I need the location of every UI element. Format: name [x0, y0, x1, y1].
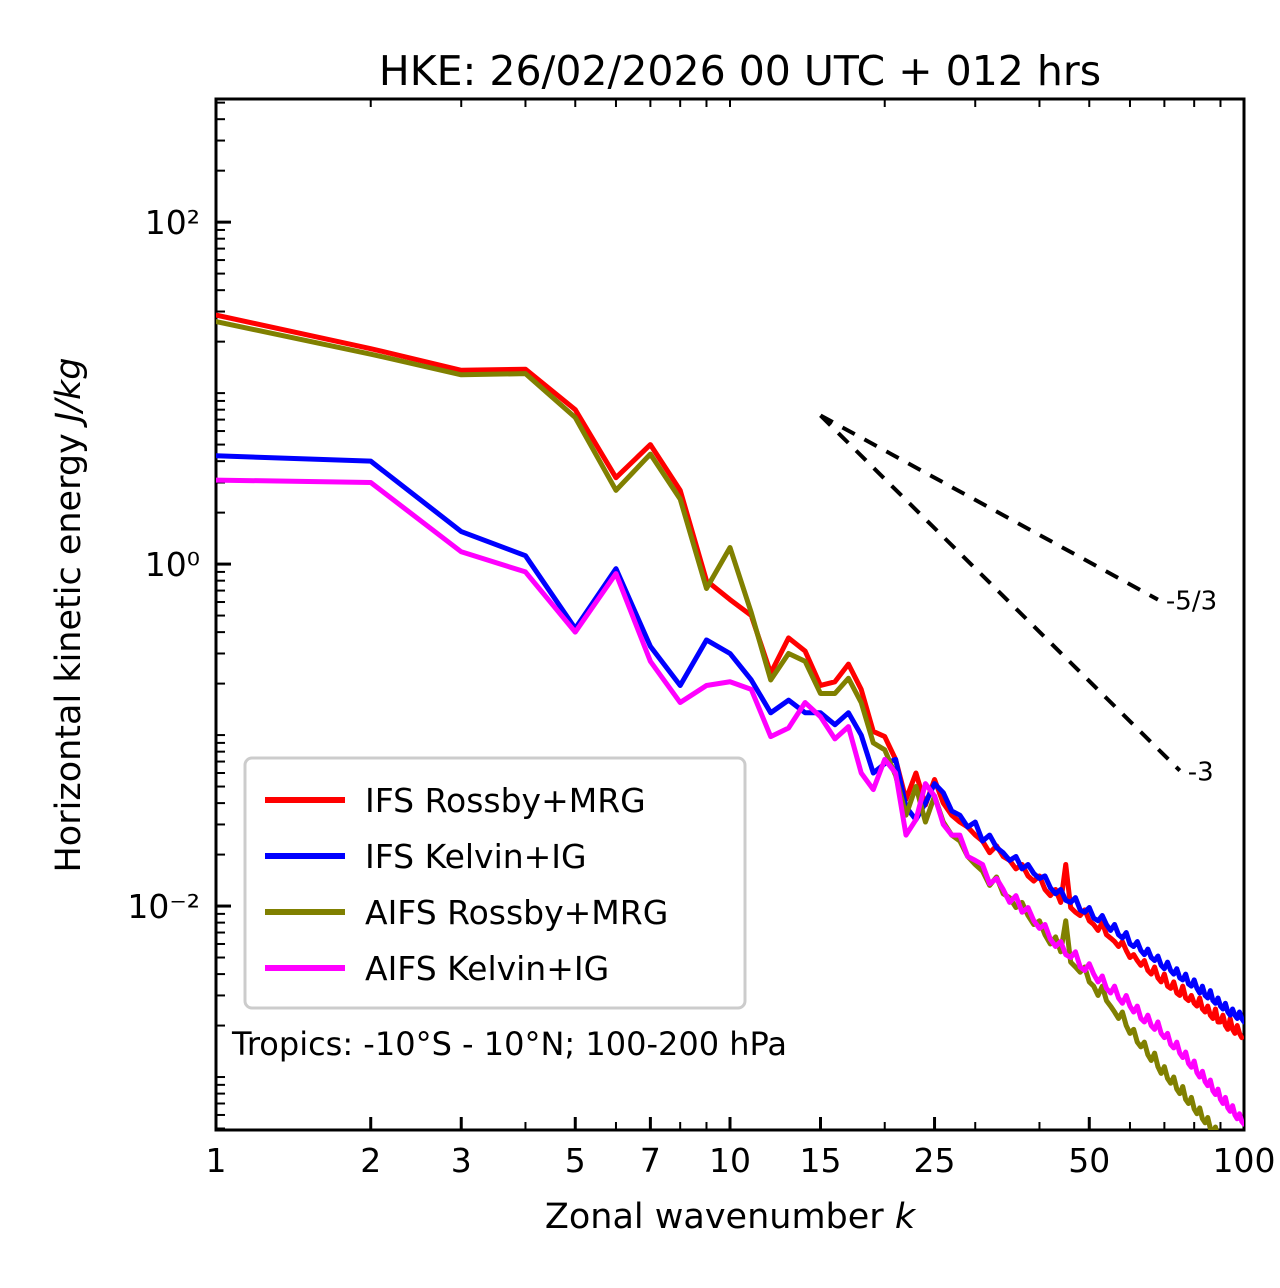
- x-tick-label: 15: [800, 1141, 842, 1180]
- x-tick-label: 2: [360, 1141, 381, 1180]
- y-axis-title-units: J/kg: [49, 357, 89, 428]
- figure-background: [0, 0, 1280, 1288]
- region-annotation: Tropics: -10°S - 10°N; 100-200 hPa: [231, 1025, 787, 1063]
- legend-label: IFS Kelvin+IG: [365, 837, 587, 876]
- x-axis-title-main: Zonal wavenumber: [545, 1197, 895, 1237]
- y-tick-label: 10⁻²: [127, 887, 200, 926]
- legend[interactable]: IFS Rossby+MRGIFS Kelvin+IGAIFS Rossby+M…: [245, 758, 745, 1008]
- x-tick-label: 7: [640, 1141, 661, 1180]
- y-tick-label: 10²: [145, 203, 200, 242]
- x-tick-label: 1: [206, 1141, 227, 1180]
- reference-slope-label: -3: [1188, 758, 1214, 788]
- x-axis-title: Zonal wavenumber k: [545, 1197, 917, 1237]
- x-tick-label: 100: [1213, 1141, 1276, 1180]
- chart-title: HKE: 26/02/2026 00 UTC + 012 hrs: [379, 47, 1101, 95]
- legend-label: IFS Rossby+MRG: [365, 781, 646, 820]
- legend-label: AIFS Rossby+MRG: [365, 893, 668, 932]
- y-axis-title-main: Horizontal kinetic energy: [49, 422, 89, 872]
- x-tick-label: 3: [451, 1141, 472, 1180]
- reference-slope-label: -5/3: [1166, 587, 1217, 617]
- y-tick-label: 10⁰: [145, 545, 200, 584]
- y-axis-title: Horizontal kinetic energy J/kg: [49, 357, 89, 872]
- x-axis-title-symbol: k: [895, 1197, 917, 1237]
- x-tick-label: 10: [709, 1141, 751, 1180]
- hke-spectrum-figure: HKE: 26/02/2026 00 UTC + 012 hrs Horizon…: [0, 0, 1280, 1288]
- x-tick-label: 5: [565, 1141, 586, 1180]
- x-tick-label: 25: [914, 1141, 956, 1180]
- legend-label: AIFS Kelvin+IG: [365, 949, 609, 988]
- x-tick-label: 50: [1068, 1141, 1110, 1180]
